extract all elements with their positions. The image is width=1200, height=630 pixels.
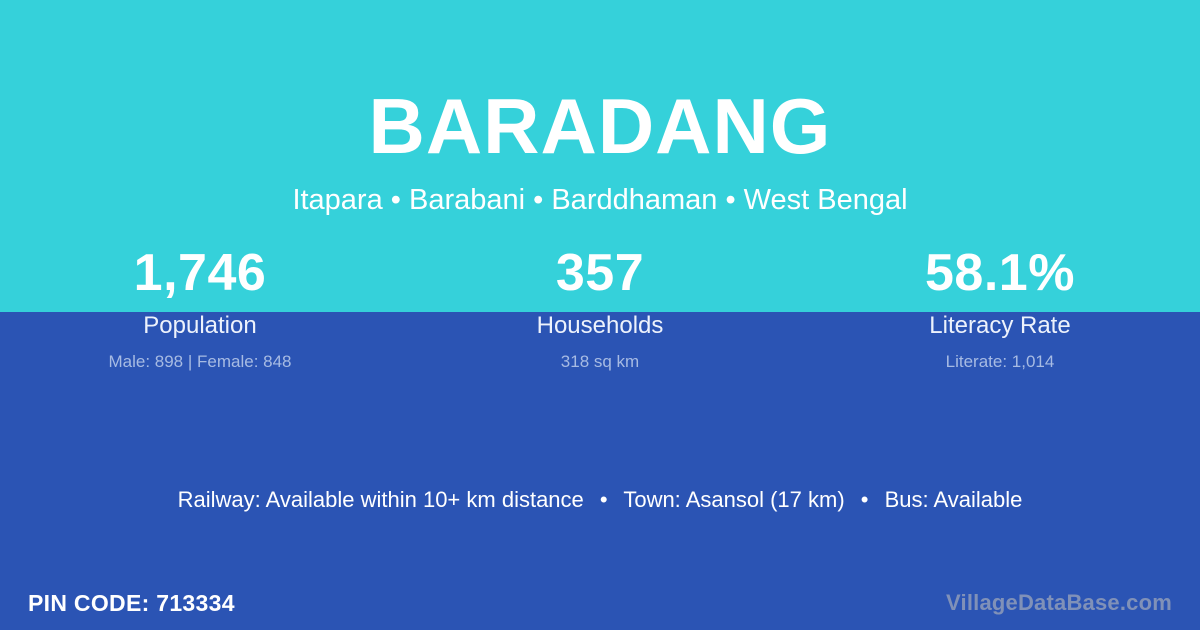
stat-households-label: Households	[400, 312, 800, 340]
stat-households: 357 Households 318 sq km	[400, 242, 800, 372]
amenity-bus: Bus: Available	[885, 487, 1023, 512]
stat-literacy-rate-value: 58.1%	[800, 242, 1200, 304]
stat-literacy-rate-sublabel: Literate: 1,014	[800, 352, 1200, 372]
amenity-separator: •	[851, 487, 879, 512]
amenity-separator: •	[590, 487, 618, 512]
amenity-railway: Railway: Available within 10+ km distanc…	[178, 487, 584, 512]
stat-population-value: 1,746	[0, 242, 400, 304]
stat-households-sublabel: 318 sq km	[400, 352, 800, 372]
pin-code: PIN CODE: 713334	[28, 588, 235, 618]
stat-literacy-rate: 58.1% Literacy Rate Literate: 1,014	[800, 242, 1200, 372]
stat-population: 1,746 Population Male: 898 | Female: 848	[0, 242, 400, 372]
site-brand: VillageDataBase.com	[946, 588, 1172, 618]
village-info-card: BARADANG Itapara • Barabani • Barddhaman…	[0, 0, 1200, 630]
stat-population-label: Population	[0, 312, 400, 340]
amenities-row: Railway: Available within 10+ km distanc…	[0, 486, 1200, 514]
stat-households-value: 357	[400, 242, 800, 304]
footer-bar: PIN CODE: 713334 VillageDataBase.com	[0, 576, 1200, 630]
stats-row: 1,746 Population Male: 898 | Female: 848…	[0, 242, 1200, 372]
amenity-town: Town: Asansol (17 km)	[623, 487, 844, 512]
stat-literacy-rate-label: Literacy Rate	[800, 312, 1200, 340]
page-title: BARADANG	[0, 76, 1200, 176]
stat-population-sublabel: Male: 898 | Female: 848	[0, 352, 400, 372]
breadcrumb: Itapara • Barabani • Barddhaman • West B…	[0, 181, 1200, 219]
